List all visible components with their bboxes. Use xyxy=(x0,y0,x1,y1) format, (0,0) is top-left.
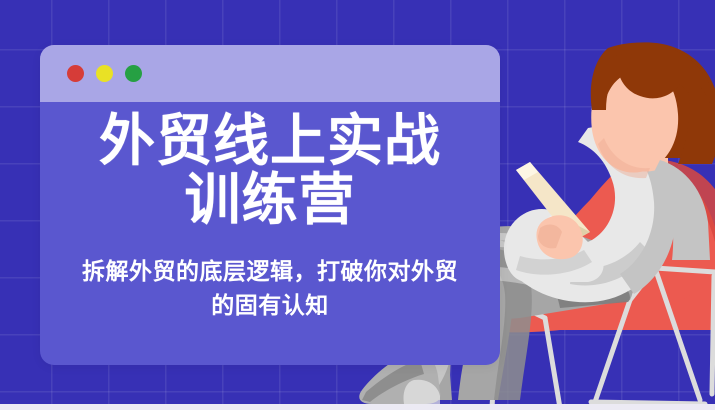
maximize-dot[interactable] xyxy=(125,65,142,82)
poster-subtitle: 拆解外贸的底层逻辑，打破你对外贸的固有认知 xyxy=(75,254,465,322)
card-body: 外贸线上实战 训练营 拆解外贸的底层逻辑，打破你对外贸的固有认知 xyxy=(40,102,500,365)
poster-root: 外贸线上实战 训练营 拆解外贸的底层逻辑，打破你对外贸的固有认知 xyxy=(0,0,715,410)
close-dot[interactable] xyxy=(67,65,84,82)
browser-card: 外贸线上实战 训练营 拆解外贸的底层逻辑，打破你对外贸的固有认知 xyxy=(40,45,500,365)
bottom-strip xyxy=(0,404,715,410)
poster-title-line1: 外贸线上实战 xyxy=(99,112,441,169)
poster-title-line2: 训练营 xyxy=(185,171,356,228)
browser-titlebar xyxy=(40,45,500,102)
minimize-dot[interactable] xyxy=(96,65,113,82)
